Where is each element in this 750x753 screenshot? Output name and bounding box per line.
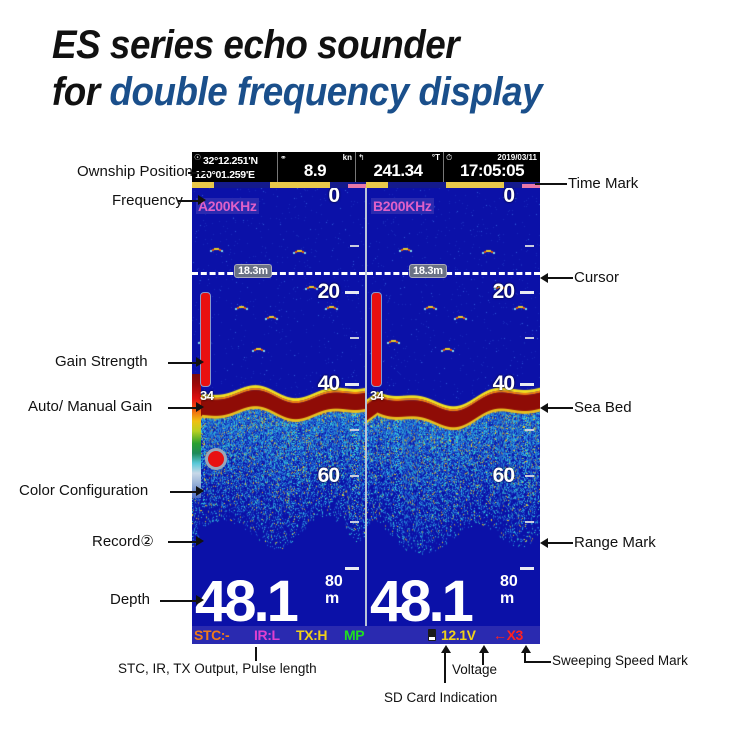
range-mark-minor-b	[525, 429, 534, 431]
range-mark-a	[345, 383, 359, 386]
arrow-sea-bed	[540, 403, 548, 413]
leader-sea-bed	[548, 407, 573, 409]
heading-value: 241.34	[356, 161, 440, 181]
depth-value-b: 48.1	[370, 573, 471, 631]
leader-frequency	[178, 200, 200, 202]
range-mark-minor-a	[350, 337, 359, 339]
record-marker-a[interactable]	[205, 448, 227, 470]
range-mark-b	[520, 291, 534, 294]
annotation-ownship-position: Ownship Position	[77, 163, 193, 180]
scale-label-b-40: 40	[493, 372, 514, 396]
scale-label-a-40: 40	[318, 372, 339, 396]
frequency-label-b[interactable]: B200KHz	[371, 198, 434, 214]
heading-cell[interactable]: ↰ °T 241.34	[356, 152, 444, 182]
annotation-stc-ir-tx-pulse: STC, IR, TX Output, Pulse length	[118, 661, 317, 676]
annotation-gain-strength: Gain Strength	[55, 353, 148, 370]
scale-label-a-0: 0	[328, 188, 339, 208]
arrow-gain-strength	[196, 357, 204, 367]
range-mark-minor-a	[350, 475, 359, 477]
annotation-frequency: Frequency	[112, 192, 183, 209]
annotation-auto-manual-gain: Auto/ Manual Gain	[28, 398, 152, 415]
leader-depth	[160, 600, 198, 602]
ownship-position-cell[interactable]: ☉ 32°12.251'N 120°01.259'E	[192, 152, 278, 182]
page-root: ES series echo sounder for double freque…	[0, 0, 750, 753]
time-value: 17:05:05	[444, 161, 540, 181]
range-mark-b	[520, 383, 534, 386]
annotation-record: Record②	[92, 532, 154, 550]
range-mark-minor-b	[525, 475, 534, 477]
title-line-2-accent: double frequency display	[109, 70, 542, 114]
status-bar: ☉ 32°12.251'N 120°01.259'E ⚭ kn 8.9 ↰ °T…	[192, 152, 540, 182]
range-mark-minor-b	[525, 521, 534, 523]
leader-ownship-position	[188, 172, 208, 174]
annotation-range-mark: Range Mark	[574, 534, 656, 551]
arrow-sweeping-speed	[521, 645, 531, 653]
gain-strength-bar-a[interactable]	[200, 292, 211, 387]
cursor-depth-tag-b: 18.3m	[409, 264, 447, 278]
stc-value[interactable]: STC:-	[194, 626, 229, 644]
annotation-depth: Depth	[110, 591, 150, 608]
scale-label-a-60: 60	[318, 464, 339, 488]
scale-label-b-20: 20	[493, 280, 514, 304]
range-mark-minor-a	[350, 521, 359, 523]
arrow-voltage	[479, 645, 489, 653]
leader-range-mark	[548, 542, 573, 544]
arrow-sd-card	[441, 645, 451, 653]
annotation-cursor: Cursor	[574, 269, 619, 286]
cursor-line-b[interactable]	[367, 272, 540, 275]
title-line-2-prefix: for	[52, 70, 109, 114]
range-value-a: 80	[325, 574, 343, 589]
arrow-depth	[196, 595, 204, 605]
scale-label-a-20: 20	[318, 280, 339, 304]
panel-a[interactable]: A200KHz 34 18.3m 0 20 40 60	[192, 188, 365, 644]
speed-cell[interactable]: ⚭ kn 8.9	[278, 152, 356, 182]
leader-sd-card	[444, 652, 446, 683]
annotation-voltage: Voltage	[452, 662, 497, 677]
range-mark-minor-b	[525, 245, 534, 247]
page-title: ES series echo sounder for double freque…	[52, 22, 712, 116]
scale-label-b-60: 60	[493, 464, 514, 488]
cursor-line-a[interactable]	[192, 272, 365, 275]
gain-value-a: 34	[200, 388, 213, 403]
title-line-2: for double frequency display	[52, 69, 659, 116]
sd-card-icon[interactable]	[428, 629, 436, 641]
scale-label-b-0: 0	[503, 188, 514, 208]
annotation-color-configuration: Color Configuration	[19, 482, 148, 499]
range-mark-minor-b	[525, 337, 534, 339]
annotation-sd-card: SD Card Indication	[384, 690, 497, 705]
leader-record	[168, 541, 198, 543]
voltage-value[interactable]: 12.1V	[441, 626, 476, 644]
arrow-auto-manual-gain	[196, 402, 204, 412]
leader-auto-manual-gain	[168, 407, 198, 409]
ir-value[interactable]: IR:L	[254, 626, 280, 644]
depth-value-a: 48.1	[195, 573, 296, 631]
gain-value-b: 34	[370, 388, 383, 403]
range-mark-minor-a	[350, 429, 359, 431]
annotation-sea-bed: Sea Bed	[574, 399, 632, 416]
speed-value: 8.9	[278, 161, 352, 181]
title-line-1: ES series echo sounder	[52, 22, 659, 69]
leader-cursor	[548, 277, 573, 279]
position-icon: ☉	[194, 154, 201, 162]
range-mark-b	[520, 567, 534, 570]
leader-time-mark	[535, 183, 567, 185]
range-unit-b: m	[500, 591, 514, 606]
bottom-status-bar: STC:- IR:L TX:H MP 12.1V ←X3	[192, 626, 540, 644]
arrow-frequency	[198, 195, 206, 205]
cursor-depth-tag-a: 18.3m	[234, 264, 272, 278]
panel-b[interactable]: B200KHz 34 18.3m 0 20 40 60 48.1 80 m	[367, 188, 540, 644]
sweeping-speed-mark[interactable]: ←X3	[493, 626, 523, 644]
range-mark-a	[345, 291, 359, 294]
echo-sounder-display[interactable]: ☉ 32°12.251'N 120°01.259'E ⚭ kn 8.9 ↰ °T…	[192, 152, 540, 644]
leader-sweeping-speed-h	[524, 661, 551, 663]
range-value-b: 80	[500, 574, 518, 589]
annotation-sweeping-speed: Sweeping Speed Mark	[552, 653, 688, 668]
leader-stc-group	[255, 647, 257, 661]
leader-gain-strength	[168, 362, 198, 364]
latitude-value: 32°12.251'N	[195, 152, 277, 168]
range-mark-a	[345, 567, 359, 570]
range-unit-a: m	[325, 591, 339, 606]
longitude-value: 120°01.259'E	[195, 168, 277, 182]
range-mark-minor-a	[350, 245, 359, 247]
arrow-color-configuration	[196, 486, 204, 496]
arrow-record	[196, 536, 204, 546]
pulse-value[interactable]: MP	[344, 626, 364, 644]
time-cell[interactable]: ⏱ 2019/03/11 17:05:05	[444, 152, 540, 182]
arrow-cursor	[540, 273, 548, 283]
tx-value[interactable]: TX:H	[296, 626, 327, 644]
gain-strength-bar-b[interactable]	[371, 292, 382, 387]
annotation-time-mark: Time Mark	[568, 175, 638, 192]
arrow-range-mark	[540, 538, 548, 548]
leader-color-configuration	[170, 491, 198, 493]
